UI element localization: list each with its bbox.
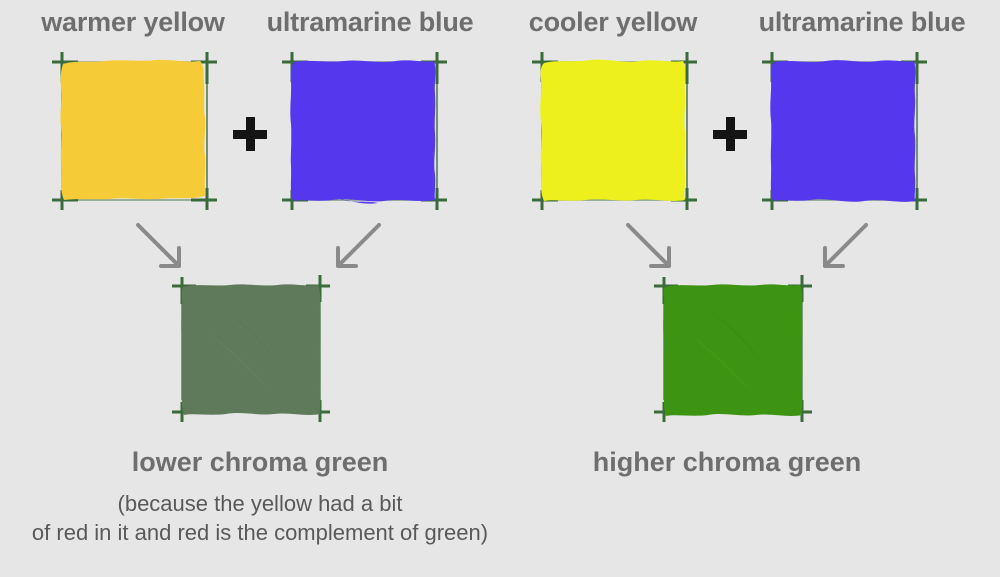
paint-body	[663, 284, 802, 416]
plus-icon-right	[713, 117, 747, 151]
paint-swatch-ultramarine-blue-left	[278, 48, 450, 213]
paint-swatch-lower-chroma-green	[168, 272, 333, 424]
plus-icon-vertical-bar	[726, 117, 735, 151]
paint-body	[770, 60, 915, 202]
result-note-line-1: (because the yellow had a bit	[32, 489, 488, 518]
result-label-higher-chroma-green: higher chroma green	[593, 447, 862, 478]
plus-icon-vertical-bar	[246, 117, 255, 151]
result-label-lower-chroma-green: lower chroma green	[132, 447, 389, 478]
result-note-line-2: of red in it and red is the complement o…	[32, 518, 488, 547]
swatch-label-ultramarine-blue-left: ultramarine blue	[267, 8, 474, 36]
result-note-lower-chroma-green: (because the yellow had a bit of red in …	[32, 489, 488, 547]
paint-swatch-cooler-yellow	[528, 48, 700, 213]
arrow-down-left-icon-right-blue	[805, 222, 875, 282]
paint-body	[181, 284, 320, 415]
swatch-label-ultramarine-blue-right: ultramarine blue	[759, 8, 966, 36]
color-mixing-diagram: warmer yellow ultramarine blue cooler ye…	[0, 0, 1000, 577]
paint-swatch-higher-chroma-green	[650, 272, 815, 424]
paint-swatch-warmer-yellow	[48, 48, 220, 213]
paint-body	[540, 60, 685, 201]
paint-body	[290, 60, 435, 201]
paint-body	[60, 60, 205, 200]
plus-icon-left	[233, 117, 267, 151]
swatch-label-warmer-yellow: warmer yellow	[41, 8, 225, 36]
swatch-label-cooler-yellow: cooler yellow	[529, 8, 697, 36]
paint-swatch-ultramarine-blue-right	[758, 48, 930, 213]
